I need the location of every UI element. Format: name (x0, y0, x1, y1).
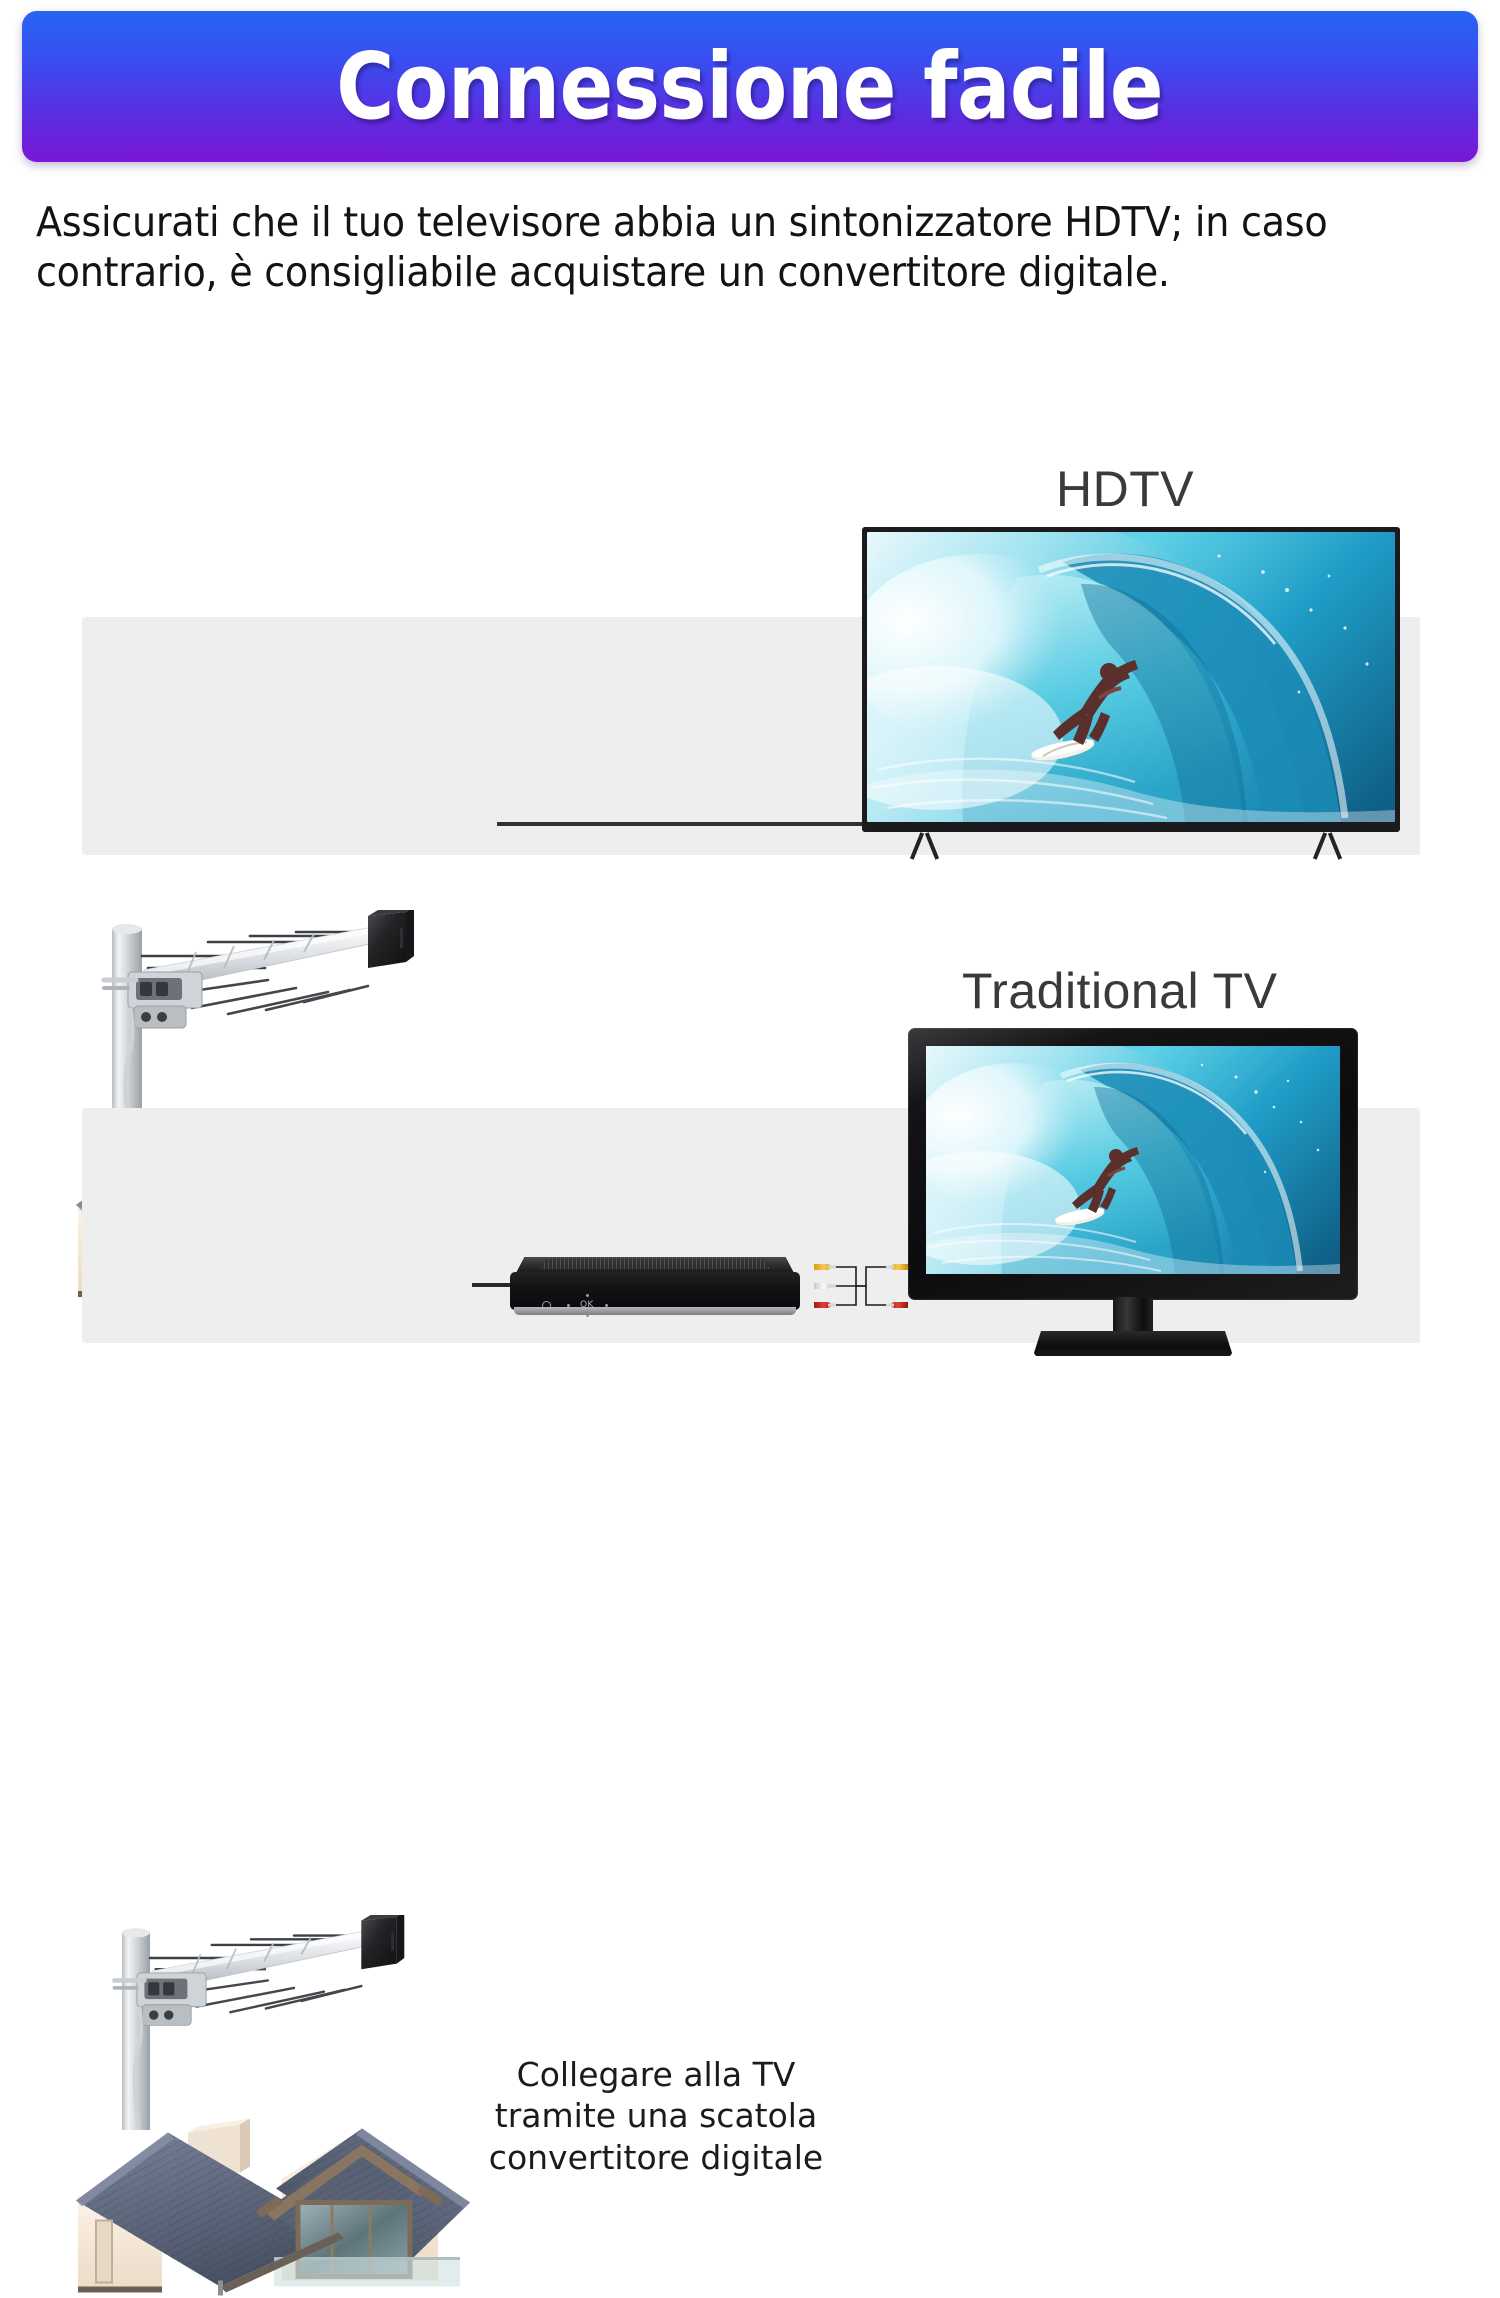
dpad-up-icon (586, 1294, 589, 1297)
coax-cable-to-converter (472, 1283, 514, 1287)
converter-front-face: OK (510, 1272, 800, 1310)
converter-vents (540, 1259, 770, 1269)
tv-label-traditional: Traditional TV (962, 962, 1277, 1020)
traditional-tv-stand-neck (1113, 1297, 1153, 1335)
hdtv-television (862, 527, 1400, 832)
tv-label-hdtv: HDTV (1056, 460, 1194, 518)
intro-paragraph: Assicurati che il tuo televisore abbia u… (36, 197, 1338, 297)
traditional-tv-screen (926, 1046, 1340, 1274)
wave-surfer-artwork (867, 532, 1395, 822)
coax-cable-direct (497, 822, 871, 826)
rca-cable-bundle (812, 1255, 910, 1317)
wave-surfer-artwork-traditional (926, 1046, 1340, 1274)
traditional-television (908, 1028, 1358, 1300)
house-illustration-traditional (70, 2078, 520, 2298)
hdtv-screen (867, 532, 1395, 822)
caption-traditional: Collegare alla TV tramite una scatola co… (456, 2054, 856, 2178)
traditional-tv-stand-base (1033, 1331, 1233, 1356)
header-banner: Connessione facile (22, 11, 1478, 162)
page-title: Connessione facile (337, 41, 1164, 133)
digital-converter-box: OK (510, 1257, 800, 1319)
converter-base (514, 1307, 796, 1315)
